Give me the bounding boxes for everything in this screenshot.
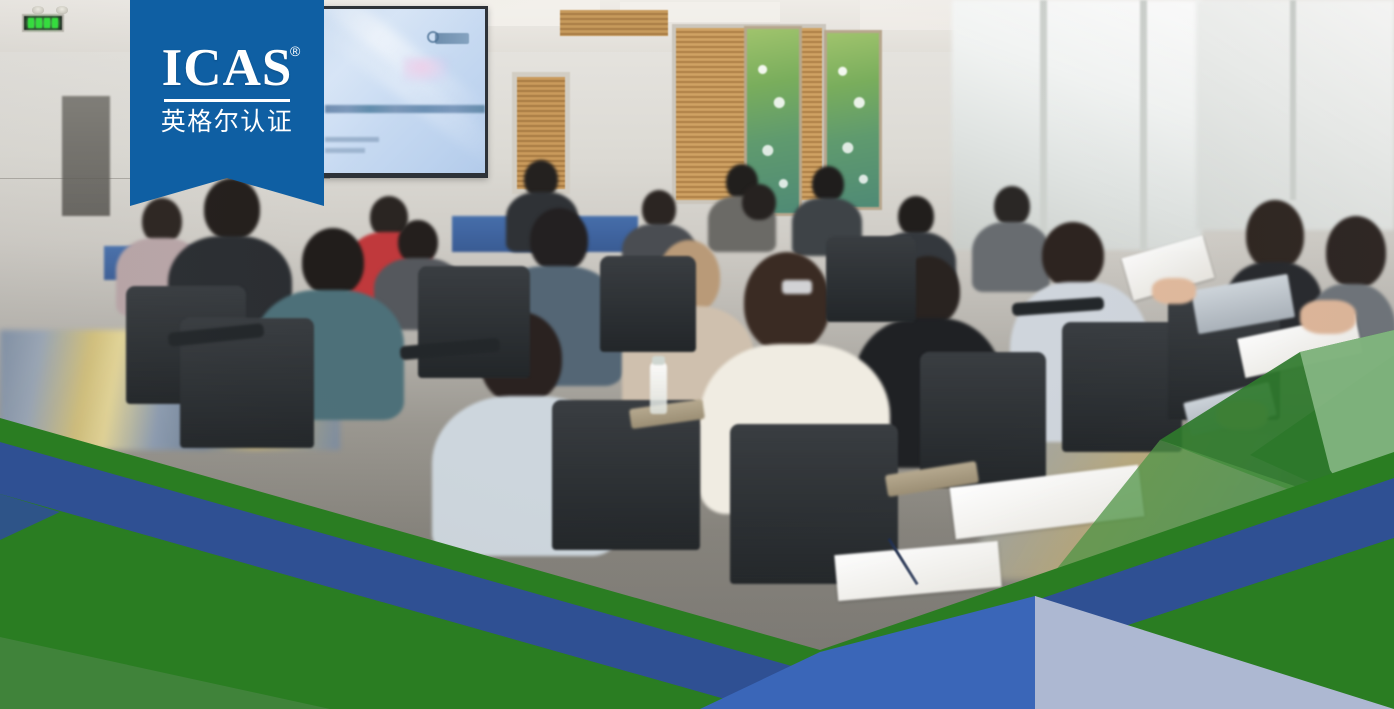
banner-canvas: ICAS ® 英格尔认证	[0, 0, 1394, 709]
logo-wordmark: ICAS	[162, 42, 293, 95]
logo-divider	[164, 99, 290, 102]
icas-logo-banner[interactable]: ICAS ® 英格尔认证	[130, 0, 324, 212]
logo-chinese-name: 英格尔认证	[161, 109, 294, 134]
